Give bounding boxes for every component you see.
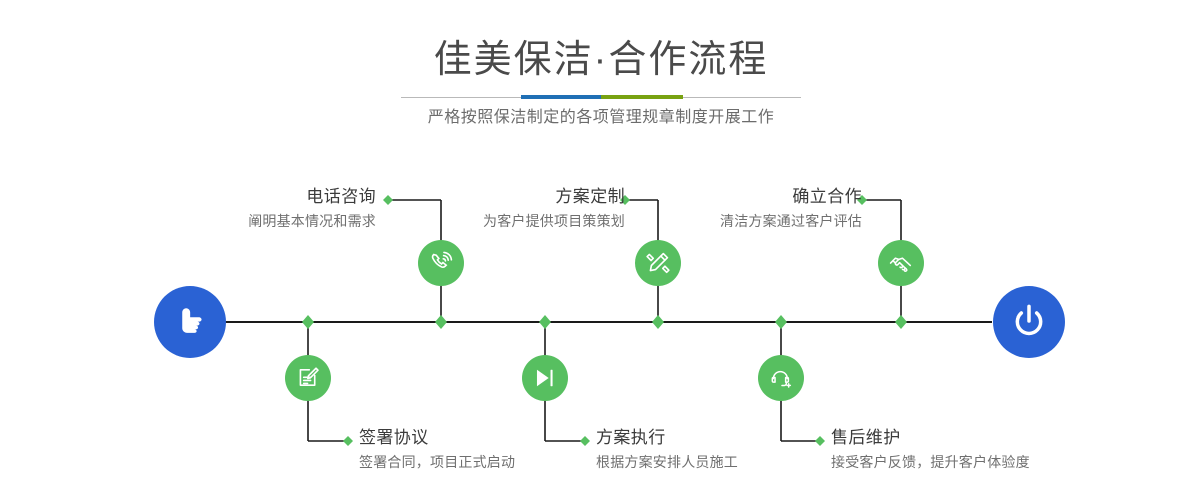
timeline-diamond bbox=[652, 315, 664, 329]
step-title: 电话咨询 bbox=[248, 186, 376, 208]
document-pencil-icon bbox=[295, 365, 321, 391]
label-diamond bbox=[343, 436, 353, 446]
step-label-phone-consult: 电话咨询 阐明基本情况和需求 bbox=[248, 186, 376, 232]
flow-end-node[interactable] bbox=[993, 286, 1065, 358]
power-icon bbox=[1009, 302, 1049, 342]
step-label-plan-customization: 方案定制 为客户提供项目策策划 bbox=[483, 186, 625, 232]
step-node-sign-agreement[interactable] bbox=[285, 355, 331, 401]
label-diamond bbox=[815, 436, 825, 446]
flow-start-node[interactable] bbox=[154, 286, 226, 358]
step-node-plan-customization[interactable] bbox=[635, 240, 681, 286]
step-node-after-sales[interactable] bbox=[758, 355, 804, 401]
timeline-diamond bbox=[895, 315, 907, 329]
step-title: 确立合作 bbox=[720, 186, 862, 208]
label-diamond bbox=[580, 436, 590, 446]
step-node-establish-cooperation[interactable] bbox=[878, 240, 924, 286]
step-title: 方案定制 bbox=[483, 186, 625, 208]
step-desc: 接受客户反馈，提升客户体验度 bbox=[831, 451, 1030, 473]
label-diamonds bbox=[343, 195, 867, 446]
step-label-sign-agreement: 签署协议 签署合同，项目正式启动 bbox=[359, 427, 515, 473]
timeline-diamond bbox=[775, 315, 787, 329]
step-node-plan-execution[interactable] bbox=[522, 355, 568, 401]
handshake-icon bbox=[888, 250, 915, 277]
step-desc: 清洁方案通过客户评估 bbox=[720, 210, 862, 232]
step-desc: 为客户提供项目策策划 bbox=[483, 210, 625, 232]
step-label-establish-cooperation: 确立合作 清洁方案通过客户评估 bbox=[720, 186, 862, 232]
step-title: 售后维护 bbox=[831, 427, 1030, 449]
pointing-hand-icon bbox=[171, 303, 209, 341]
headset-support-icon bbox=[768, 365, 794, 391]
process-flow-diagram: 电话咨询 阐明基本情况和需求 签署协议 签署合同，项目正式启动 bbox=[0, 0, 1202, 502]
step-label-plan-execution: 方案执行 根据方案安排人员施工 bbox=[596, 427, 738, 473]
step-node-phone-consult[interactable] bbox=[418, 240, 464, 286]
timeline-diamond bbox=[302, 315, 314, 329]
timeline-diamond bbox=[435, 315, 447, 329]
page-root: 佳美保洁·合作流程 严格按照保洁制定的各项管理规章制度开展工作 bbox=[0, 0, 1202, 502]
play-execute-icon bbox=[532, 365, 558, 391]
timeline-diamond bbox=[539, 315, 551, 329]
label-diamond bbox=[383, 195, 393, 205]
phone-ring-icon bbox=[428, 250, 454, 276]
pencil-ruler-icon bbox=[645, 250, 671, 276]
step-desc: 阐明基本情况和需求 bbox=[248, 210, 376, 232]
step-title: 方案执行 bbox=[596, 427, 738, 449]
step-label-after-sales: 售后维护 接受客户反馈，提升客户体验度 bbox=[831, 427, 1030, 473]
step-desc: 根据方案安排人员施工 bbox=[596, 451, 738, 473]
step-title: 签署协议 bbox=[359, 427, 515, 449]
step-desc: 签署合同，项目正式启动 bbox=[359, 451, 515, 473]
